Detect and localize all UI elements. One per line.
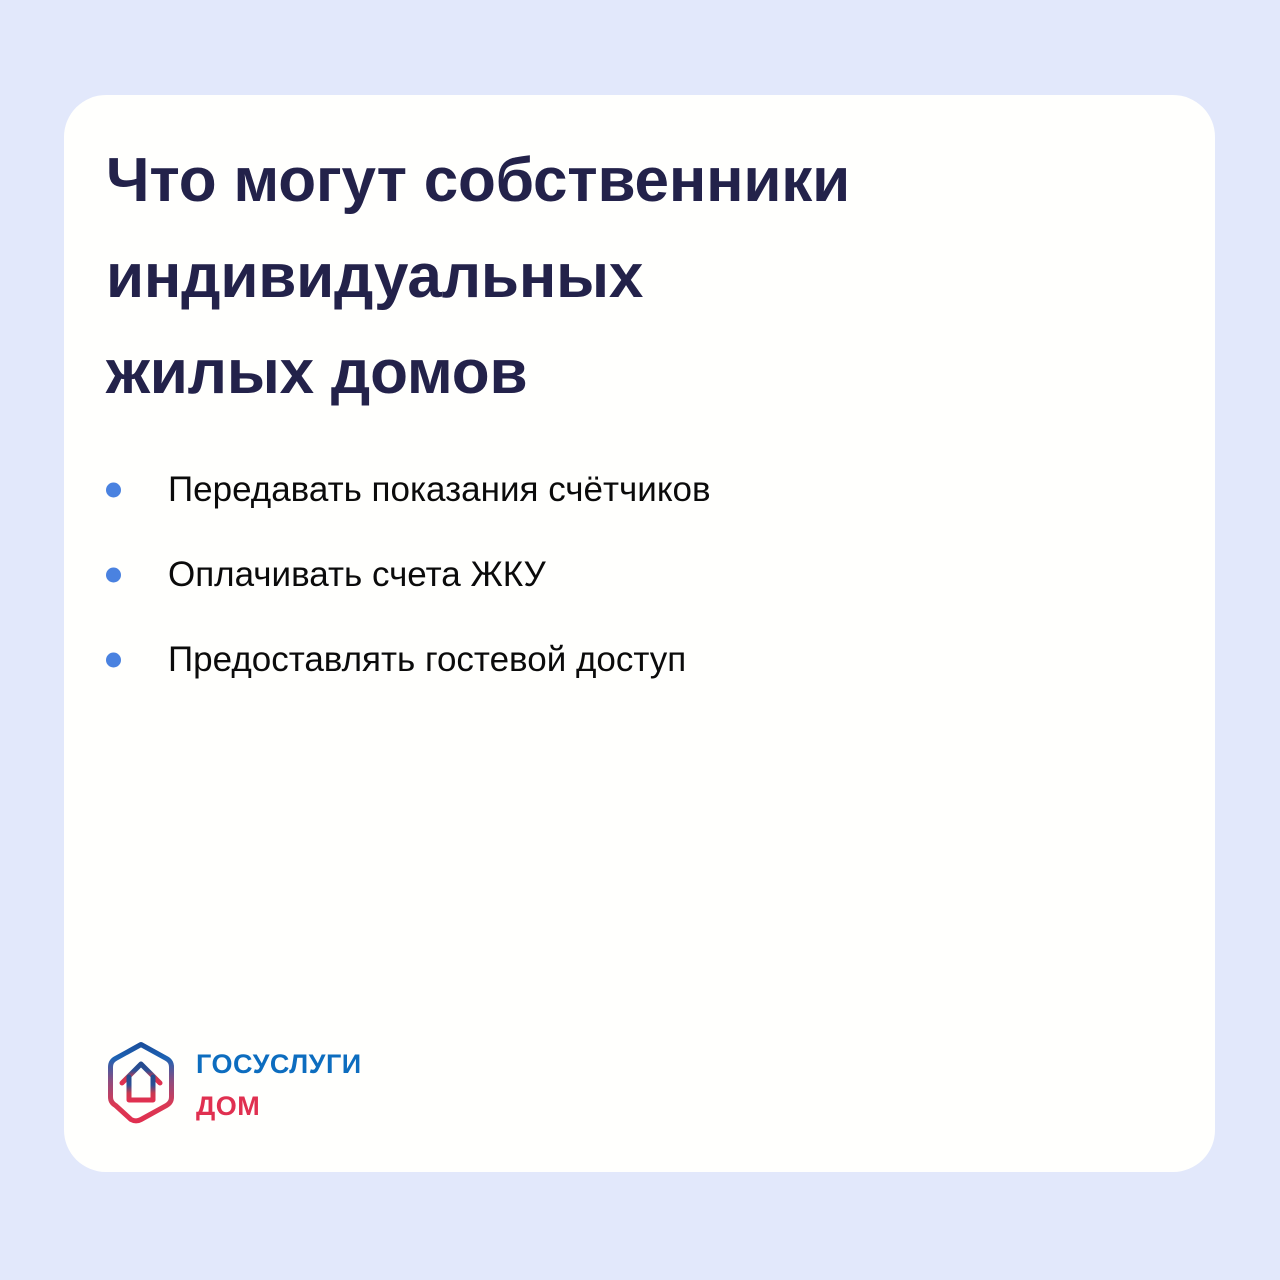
page-title: Что могут собственники индивидуальных жи… bbox=[106, 133, 1066, 421]
list-item-label: Предоставлять гостевой доступ bbox=[168, 639, 686, 681]
capability-list: Передавать показания счётчиков Оплачиват… bbox=[106, 447, 1106, 702]
slide-canvas: Что могут собственники индивидуальных жи… bbox=[0, 0, 1280, 1280]
bullet-dot-icon bbox=[106, 652, 121, 667]
content-card: Что могут собственники индивидуальных жи… bbox=[64, 95, 1215, 1172]
brand-word-dom: ДОМ bbox=[196, 1082, 362, 1124]
bullet-dot-icon bbox=[106, 482, 121, 497]
brand-logo: ГОСУСЛУГИ ДОМ bbox=[102, 1040, 362, 1124]
list-item: Оплачивать счета ЖКУ bbox=[106, 532, 1106, 617]
list-item-label: Оплачивать счета ЖКУ bbox=[168, 554, 546, 596]
house-in-hexagon-icon bbox=[102, 1040, 180, 1124]
brand-word-gosuslugi: ГОСУСЛУГИ bbox=[196, 1040, 362, 1082]
brand-wordmark: ГОСУСЛУГИ ДОМ bbox=[196, 1040, 362, 1124]
list-item-label: Передавать показания счётчиков bbox=[168, 469, 711, 511]
bullet-dot-icon bbox=[106, 567, 121, 582]
list-item: Предоставлять гостевой доступ bbox=[106, 617, 1106, 702]
list-item: Передавать показания счётчиков bbox=[106, 447, 1106, 532]
